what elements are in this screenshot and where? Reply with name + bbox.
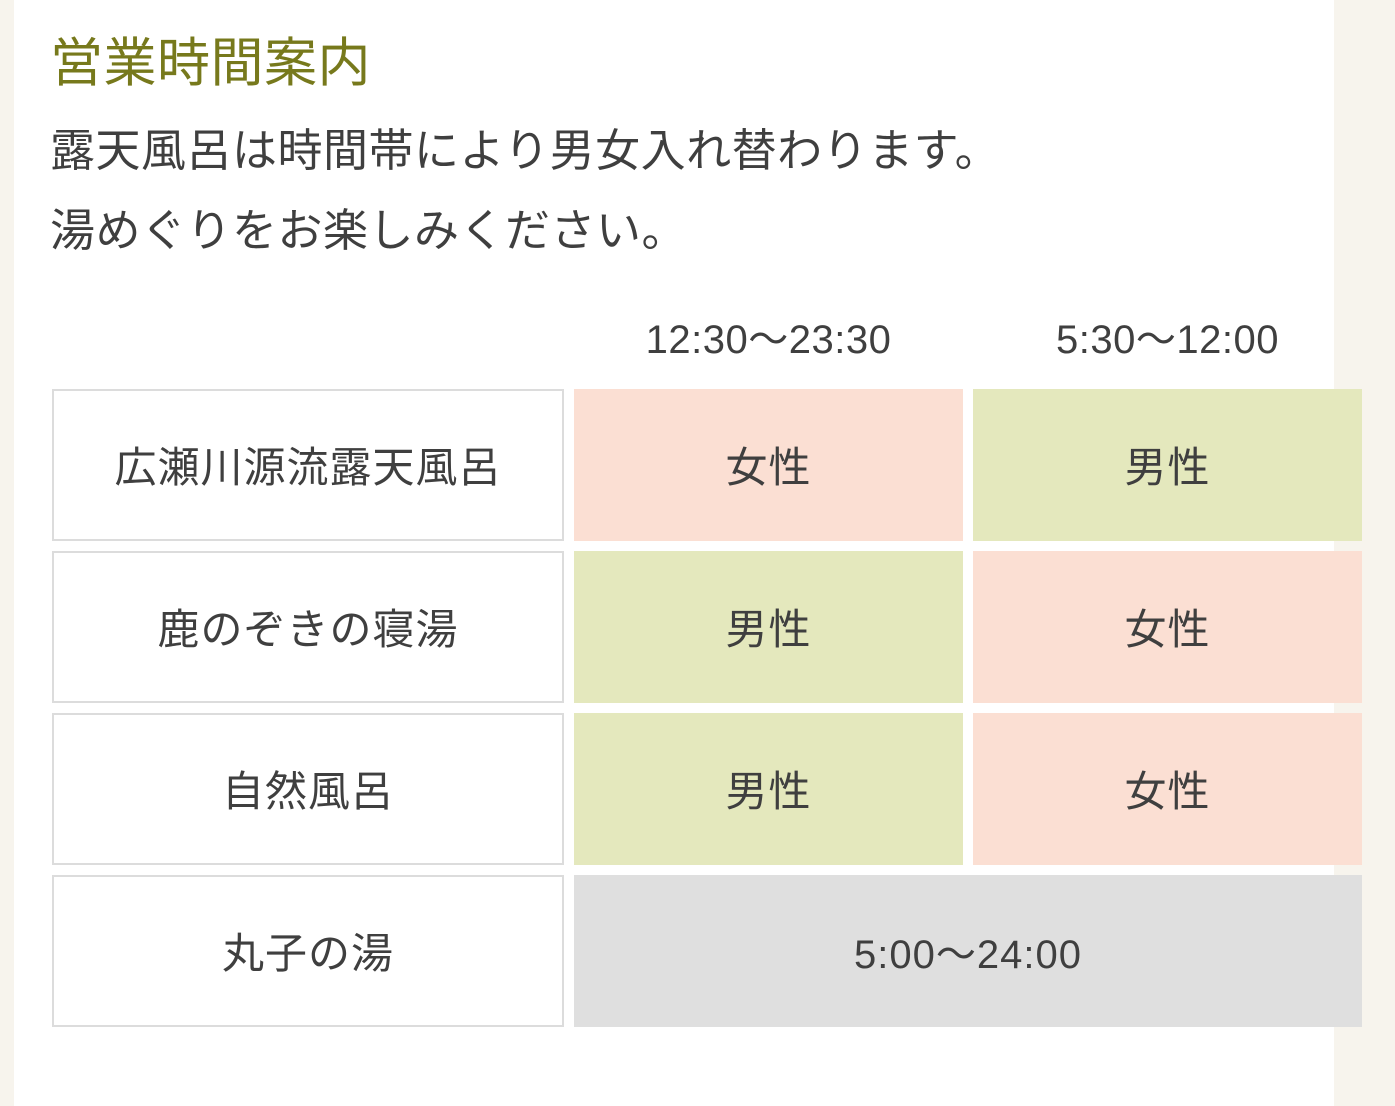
slot-2-occupancy: 女性 [973, 713, 1362, 865]
lead-line-2: 湯めぐりをお楽しみください。 [50, 191, 1310, 271]
table-row: 自然風呂 男性 女性 [52, 713, 1362, 865]
content-inner: 営業時間案内 露天風呂は時間帯により男女入れ替わります。 湯めぐりをお楽しみくだ… [14, 0, 1334, 1037]
slot-2-occupancy: 女性 [973, 551, 1362, 703]
page-title: 営業時間案内 [50, 32, 1310, 97]
lead-description: 露天風呂は時間帯により男女入れ替わります。 湯めぐりをお楽しみください。 [50, 111, 1310, 271]
lead-line-1: 露天風呂は時間帯により男女入れ替わります。 [50, 111, 1310, 191]
bath-name: 丸子の湯 [52, 875, 564, 1027]
slot-1-occupancy: 女性 [574, 389, 963, 541]
schedule-body: 広瀬川源流露天風呂 女性 男性 鹿のぞきの寝湯 男性 女性 自然風呂 男性 女性… [52, 389, 1362, 1027]
content-panel: 営業時間案内 露天風呂は時間帯により男女入れ替わります。 湯めぐりをお楽しみくだ… [14, 0, 1334, 1106]
all-day-hours: 5:00〜24:00 [574, 875, 1362, 1027]
slot-1-occupancy: 男性 [574, 551, 963, 703]
schedule-header-row: 12:30〜23:30 5:30〜12:00 [52, 303, 1362, 379]
bath-name: 鹿のぞきの寝湯 [52, 551, 564, 703]
slot-2-occupancy: 男性 [973, 389, 1362, 541]
table-row: 広瀬川源流露天風呂 女性 男性 [52, 389, 1362, 541]
header-slot-2: 5:30〜12:00 [973, 303, 1362, 379]
header-slot-1: 12:30〜23:30 [574, 303, 963, 379]
table-row: 鹿のぞきの寝湯 男性 女性 [52, 551, 1362, 703]
header-name-column [52, 303, 564, 379]
schedule-head: 12:30〜23:30 5:30〜12:00 [52, 303, 1362, 379]
bath-name: 広瀬川源流露天風呂 [52, 389, 564, 541]
table-row: 丸子の湯 5:00〜24:00 [52, 875, 1362, 1027]
bath-name: 自然風呂 [52, 713, 564, 865]
slot-1-occupancy: 男性 [574, 713, 963, 865]
bath-schedule-table: 12:30〜23:30 5:30〜12:00 広瀬川源流露天風呂 女性 男性 鹿… [42, 293, 1372, 1037]
